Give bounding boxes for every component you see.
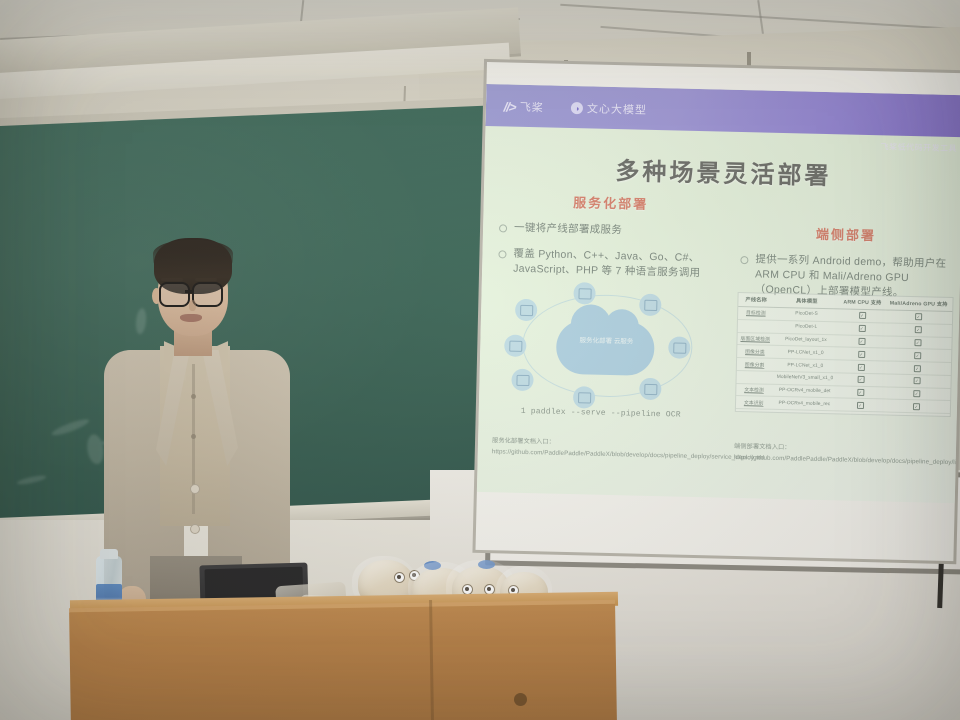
slide-header-band bbox=[485, 84, 960, 137]
table-cell-support: ✓ bbox=[837, 398, 882, 412]
left-doc-link: 服务化部署文档入口： https://github.com/PaddlePadd… bbox=[492, 436, 722, 462]
check-icon: ✓ bbox=[857, 376, 864, 383]
table-column-header: 产线名称 bbox=[738, 293, 774, 307]
table-cell-support: ✓ bbox=[839, 322, 884, 336]
table-cell-support: ✓ bbox=[839, 334, 884, 348]
slide-title: 多种场景灵活部署 bbox=[484, 148, 960, 194]
chalk-mark bbox=[50, 417, 90, 438]
list-item: 覆盖 Python、C++、Java、Go、C#、JavaScript、PHP … bbox=[498, 247, 721, 283]
bullet-dot-icon bbox=[499, 224, 507, 232]
table-cell-pipeline bbox=[737, 370, 773, 384]
check-icon: ✓ bbox=[914, 339, 921, 346]
device-node-icon bbox=[639, 378, 662, 401]
check-icon: ✓ bbox=[915, 314, 922, 321]
classroom-photo: //> 飞桨 ◑ 文心大模型 飞桨低代码开发工具 多种场景灵活部署 服务化部署 … bbox=[0, 0, 960, 720]
table-cell-pipeline: 版面区域检测 bbox=[737, 332, 773, 346]
table-cell-pipeline: 图像分割 bbox=[737, 358, 773, 372]
check-icon: ✓ bbox=[858, 338, 865, 345]
mouth bbox=[180, 314, 202, 322]
left-section-heading: 服务化部署 bbox=[500, 190, 722, 214]
check-icon: ✓ bbox=[915, 326, 922, 333]
paddle-logo-mark: //> bbox=[502, 99, 517, 114]
check-icon: ✓ bbox=[914, 365, 921, 372]
table-cell-pipeline: 图像分类 bbox=[737, 345, 773, 359]
projection-screen: //> 飞桨 ◑ 文心大模型 飞桨低代码开发工具 多种场景灵活部署 服务化部署 … bbox=[476, 62, 960, 561]
slide-right-column: 端侧部署 提供一系列 Android demo，帮助用户在 ARM CPU 和 … bbox=[740, 222, 952, 303]
shirt-button bbox=[191, 394, 196, 399]
cloud-shape-icon bbox=[556, 320, 655, 376]
check-icon: ✓ bbox=[913, 403, 920, 410]
device-node-icon bbox=[511, 369, 534, 392]
slide-corner-text: 飞桨低代码开发工具 bbox=[880, 141, 957, 154]
right-doc-link: 端侧部署文档入口： https://github.com/PaddlePaddl… bbox=[734, 442, 948, 468]
presentation-slide: //> 飞桨 ◑ 文心大模型 飞桨低代码开发工具 多种场景灵活部署 服务化部署 … bbox=[477, 84, 960, 503]
table-column-header: ARM CPU 支持 bbox=[840, 295, 885, 310]
water-bottle-cap bbox=[100, 549, 118, 559]
table-cell-pipeline: 文本识别 bbox=[736, 396, 772, 410]
table-cell-support: ✓ bbox=[838, 373, 883, 387]
code-snippet: 1 paddlex --serve --pipeline OCR bbox=[521, 407, 721, 421]
wenxin-logo: ◑ 文心大模型 bbox=[571, 100, 647, 118]
bullet-dot-icon bbox=[498, 251, 506, 259]
table-cell-support: ✓ bbox=[839, 309, 884, 323]
slide-left-column: 服务化部署 一键将产线部署成服务 覆盖 Python、C++、Java、Go、C… bbox=[498, 190, 722, 282]
check-icon: ✓ bbox=[857, 389, 864, 396]
left-bullet-1: 一键将产线部署成服务 bbox=[514, 221, 622, 239]
paddlepaddle-logo: //> 飞桨 bbox=[504, 98, 544, 115]
podium bbox=[69, 600, 617, 720]
model-support-table: 产线名称具体模型ARM CPU 支持Mali/Adreno GPU 支持 目标检… bbox=[735, 292, 954, 417]
wenxin-logo-icon: ◑ bbox=[571, 102, 583, 114]
shirt-button bbox=[191, 434, 196, 439]
left-bullet-2: 覆盖 Python、C++、Java、Go、C#、JavaScript、PHP … bbox=[513, 247, 721, 282]
check-icon: ✓ bbox=[913, 390, 920, 397]
projection-screen-area: //> 飞桨 ◑ 文心大模型 飞桨低代码开发工具 多种场景灵活部署 服务化部署 … bbox=[476, 62, 960, 561]
nose bbox=[189, 300, 196, 311]
glasses-lens-right bbox=[192, 282, 223, 307]
list-item: 一键将产线部署成服务 bbox=[499, 220, 721, 240]
right-section-heading: 端侧部署 bbox=[741, 222, 951, 246]
cloud-label: 服务化部署 云服务 bbox=[564, 336, 648, 348]
bullet-dot-icon bbox=[740, 256, 748, 264]
cloud-service-diagram: 服务化部署 云服务 bbox=[511, 285, 704, 407]
table-cell-support: ✓ bbox=[839, 347, 884, 361]
eyebrow bbox=[195, 278, 217, 281]
table-cell-support: ✓ bbox=[882, 399, 950, 413]
table-cell-pipeline: 文本检测 bbox=[736, 383, 772, 397]
check-icon: ✓ bbox=[859, 312, 866, 319]
table-cell-support: ✓ bbox=[838, 360, 883, 374]
check-icon: ✓ bbox=[857, 363, 864, 370]
paddle-logo-text: 飞桨 bbox=[520, 99, 544, 116]
table-cell-support: ✓ bbox=[838, 386, 883, 400]
blazer-button bbox=[190, 524, 200, 534]
device-node-icon bbox=[573, 386, 596, 409]
chalk-mark bbox=[16, 474, 47, 486]
table-cell-pipeline: 目标检测 bbox=[738, 306, 774, 320]
check-icon: ✓ bbox=[858, 325, 865, 332]
check-icon: ✓ bbox=[856, 402, 863, 409]
check-icon: ✓ bbox=[914, 352, 921, 359]
check-icon: ✓ bbox=[858, 351, 865, 358]
hair-fringe bbox=[153, 240, 233, 270]
table-cell-model: PP-OCRv4_mobile_rec bbox=[771, 397, 837, 411]
blazer-button bbox=[190, 484, 200, 494]
eyebrow bbox=[161, 278, 183, 281]
table-cell-pipeline bbox=[738, 319, 774, 333]
glasses-bridge bbox=[185, 290, 194, 293]
glasses-lens-left bbox=[159, 282, 190, 307]
podium-knob bbox=[514, 693, 527, 706]
table-body: 目标检测PicoDet-S✓✓PicoDet-L✓✓版面区域检测PicoDet_… bbox=[736, 306, 952, 413]
check-icon: ✓ bbox=[913, 377, 920, 384]
wenxin-logo-text: 文心大模型 bbox=[587, 100, 647, 117]
